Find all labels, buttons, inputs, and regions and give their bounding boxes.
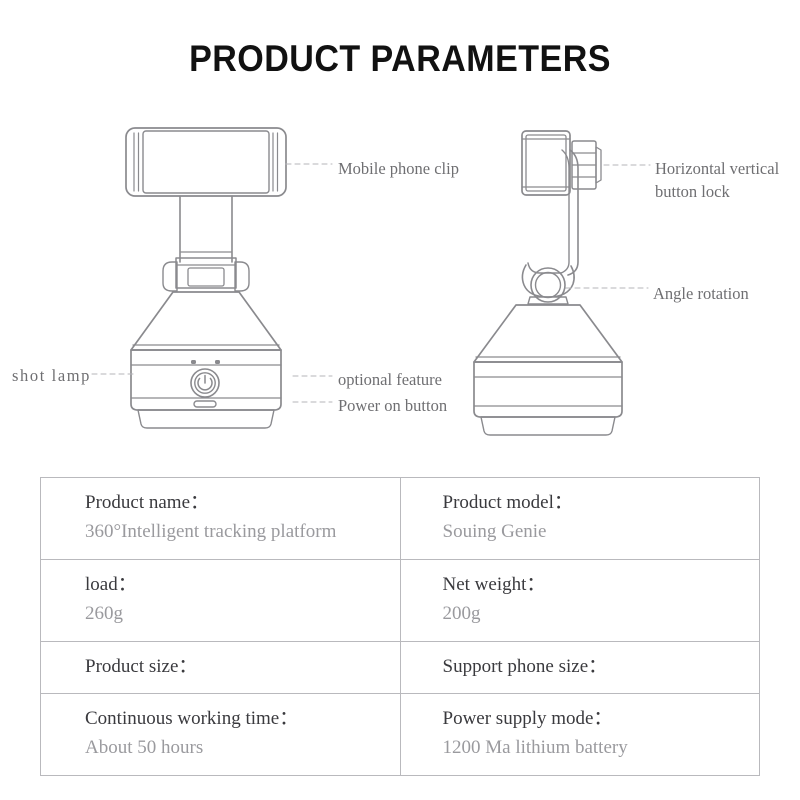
table-cell-product-name: Product name： 360°Intelligent tracking p… [41,478,401,560]
tilt-joint [163,258,249,291]
base-band-side [474,362,622,417]
table-row: load： 260g Net weight： 200g [41,559,760,641]
parameters-table: Product name： 360°Intelligent tracking p… [40,477,760,776]
annotation-button-lock-line2: button lock [655,182,730,201]
annotation-shot-lamp: shot lamp [12,364,91,387]
phone-clip [126,128,286,196]
annotation-optional-feature: optional feature [338,368,442,391]
cell-value: Souing Genie [443,518,760,547]
table-row: Product size： Support phone size： [41,641,760,694]
cell-label: Product name： [85,489,400,518]
table-cell-continuous-working-time: Continuous working time： About 50 hours [41,694,401,776]
table-cell-product-model: Product model： Souing Genie [400,478,760,560]
cell-label: load： [85,571,400,600]
cell-value: 1200 Ma lithium battery [443,734,760,763]
left-device-front-view [126,128,286,428]
power-button [191,369,219,397]
annotation-angle-rotation: Angle rotation [653,282,749,305]
annotation-button-lock-line1: Horizontal vertical [655,159,779,178]
angle-rotation-joint [522,265,574,304]
right-device-side-view [474,131,622,435]
cell-value: 200g [443,600,760,629]
cell-label: Net weight： [443,571,760,600]
button-lock-knob [572,141,601,189]
cell-label: Power supply mode： [443,705,760,734]
table-cell-product-size: Product size： [41,641,401,694]
base-foot [138,410,274,428]
cell-label: Product model： [443,489,760,518]
table-cell-power-supply-mode: Power supply mode： 1200 Ma lithium batte… [400,694,760,776]
phone-clip-side [522,131,570,195]
table-cell-net-weight: Net weight： 200g [400,559,760,641]
cell-label: Continuous working time： [85,705,400,734]
cell-value: 360°Intelligent tracking platform [85,518,400,547]
cell-value: About 50 hours [85,734,400,763]
table-row: Product name： 360°Intelligent tracking p… [41,478,760,560]
charging-port [194,401,216,407]
cell-label: Support phone size： [443,653,760,682]
table-cell-load: load： 260g [41,559,401,641]
table-cell-support-phone-size: Support phone size： [400,641,760,694]
base-body-side [474,305,622,362]
cell-value: 260g [85,600,400,629]
base-foot-side [481,417,615,435]
indicator-dots [191,360,220,364]
annotation-mobile-phone-clip: Mobile phone clip [338,157,459,180]
base-body [131,292,281,350]
table-row: Continuous working time： About 50 hours … [41,694,760,776]
cell-label: Product size： [85,653,400,682]
annotation-button-lock: Horizontal verticalbutton lock [655,157,779,204]
neck-stem [180,196,232,262]
annotation-power-on-button: Power on button [338,394,447,417]
